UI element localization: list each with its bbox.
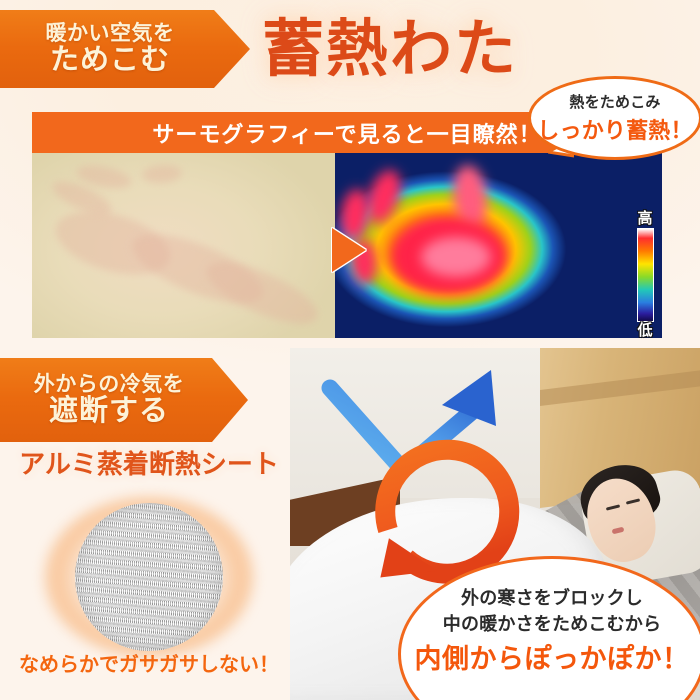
balloon-top-line1: 熱をためこみ — [569, 91, 660, 112]
insulation-ribbon-line1: 外からの冷気を — [34, 374, 185, 395]
hand-under-futon-normal-photo — [32, 153, 335, 338]
header-ribbon-line1: 暖かい空気を — [46, 23, 175, 44]
balloon-top-line2: しっかり蓄熱！ — [537, 113, 692, 145]
advertisement-page: 暖かい空気を ためこむ 蓄熱わた 熱をためこみ しっかり蓄熱！ サーモグラフィー… — [0, 0, 700, 700]
balloon-bottom-line3: 内側からぽっかぽか！ — [401, 639, 700, 679]
aluminium-mesh-sheet-closeup — [40, 494, 258, 660]
page-title: 蓄熱わた — [262, 8, 562, 92]
balloon-bottom-line2: 中の暖かさをためこむから — [401, 611, 700, 637]
legend-low-label: 低 — [628, 324, 662, 338]
thermal-scale-legend: 高 低 — [628, 212, 662, 336]
aluminium-mesh-swatch — [75, 503, 223, 651]
balloon-heat-storage: 熱をためこみ しっかり蓄熱！ — [528, 76, 700, 160]
aluminium-caption: なめらかでガサガサしない！ — [10, 650, 288, 680]
header-ribbon-warm-air: 暖かい空気を ためこむ — [0, 10, 250, 88]
balloon-bottom-line1: 外の寒さをブロックし — [401, 585, 700, 611]
legend-gradient-bar — [637, 228, 654, 322]
legend-high-label: 高 — [628, 212, 662, 226]
hand-thermal-camera-photo — [335, 153, 662, 338]
thermography-header-label: サーモグラフィーで見ると一目瞭然！ — [152, 117, 541, 149]
header-ribbon-line2: ためこむ — [50, 46, 170, 76]
arrow-right-icon — [332, 228, 366, 272]
aluminium-sheet-subtitle: アルミ蒸着断熱シート — [10, 448, 288, 482]
insulation-ribbon-line2: 遮断する — [49, 397, 169, 427]
insulation-ribbon-block-cold: 外からの冷気を 遮断する — [0, 358, 248, 442]
